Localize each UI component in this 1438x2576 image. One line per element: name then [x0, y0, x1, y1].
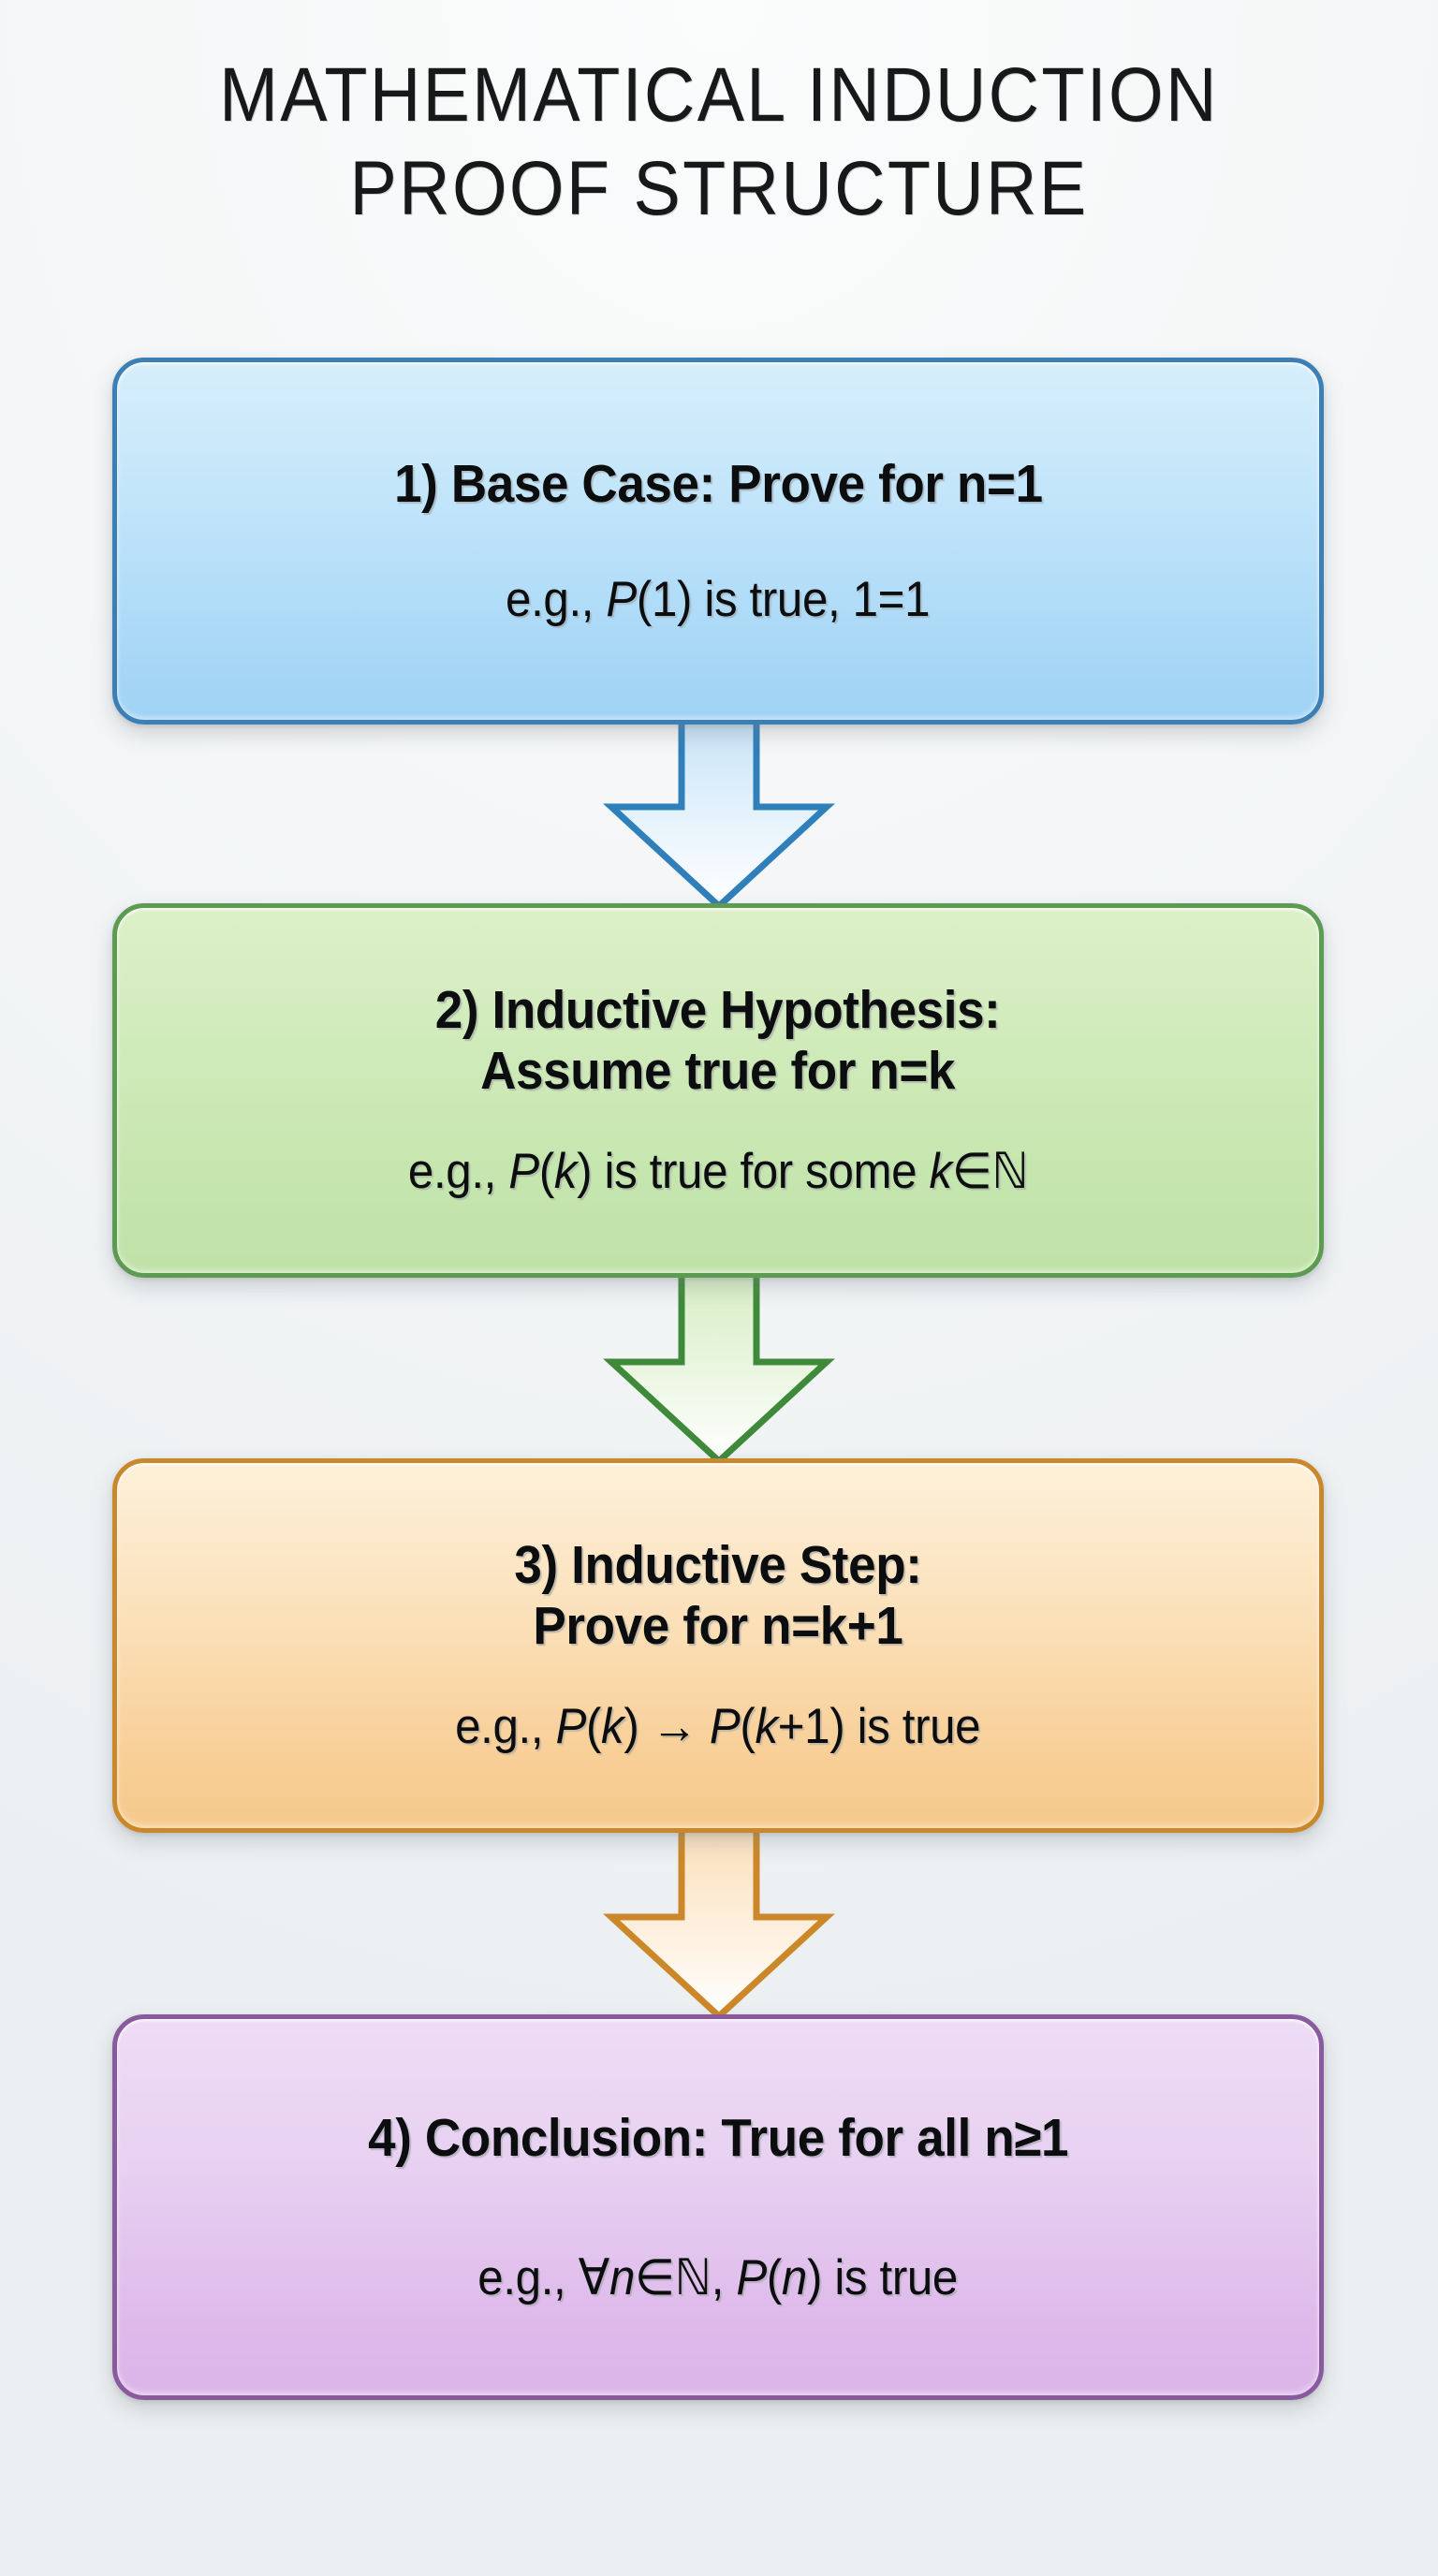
flow-node-inductive-step-example: e.g., P(k) → P(k+1) is true [455, 1698, 980, 1755]
flow-node-conclusion-title: 4) Conclusion: True for all n≥1 [368, 2108, 1068, 2169]
flow-node-inductive-hypothesis-title: 2) Inductive Hypothesis: Assume true for… [435, 980, 1001, 1102]
flow-node-inductive-hypothesis-example: e.g., P(k) is true for some k∈ℕ [408, 1143, 1029, 1200]
flow-node-conclusion-example: e.g., ∀n∈ℕ, P(n) is true [478, 2249, 959, 2306]
arrow-step-to-conclusion-icon [593, 1807, 845, 2020]
flow-node-inductive-hypothesis[interactable]: 2) Inductive Hypothesis: Assume true for… [112, 903, 1324, 1278]
flow-node-inductive-step-title: 3) Inductive Step: Prove for n=k+1 [514, 1535, 921, 1657]
flow-node-conclusion[interactable]: 4) Conclusion: True for all n≥1 e.g., ∀n… [112, 2014, 1324, 2400]
flow-node-inductive-step[interactable]: 3) Inductive Step: Prove for n=k+1 e.g.,… [112, 1458, 1324, 1833]
arrow-hypothesis-to-step-icon [593, 1251, 845, 1465]
flow-node-base-case-example: e.g., P(1) is true, 1=1 [506, 571, 930, 628]
arrow-base-to-hypothesis-icon [593, 696, 845, 910]
flow-node-base-case[interactable]: 1) Base Case: Prove for n=1 e.g., P(1) i… [112, 358, 1324, 724]
flow-node-base-case-title: 1) Base Case: Prove for n=1 [394, 454, 1043, 515]
induction-flowchart: 1) Base Case: Prove for n=1 e.g., P(1) i… [0, 0, 1438, 2576]
